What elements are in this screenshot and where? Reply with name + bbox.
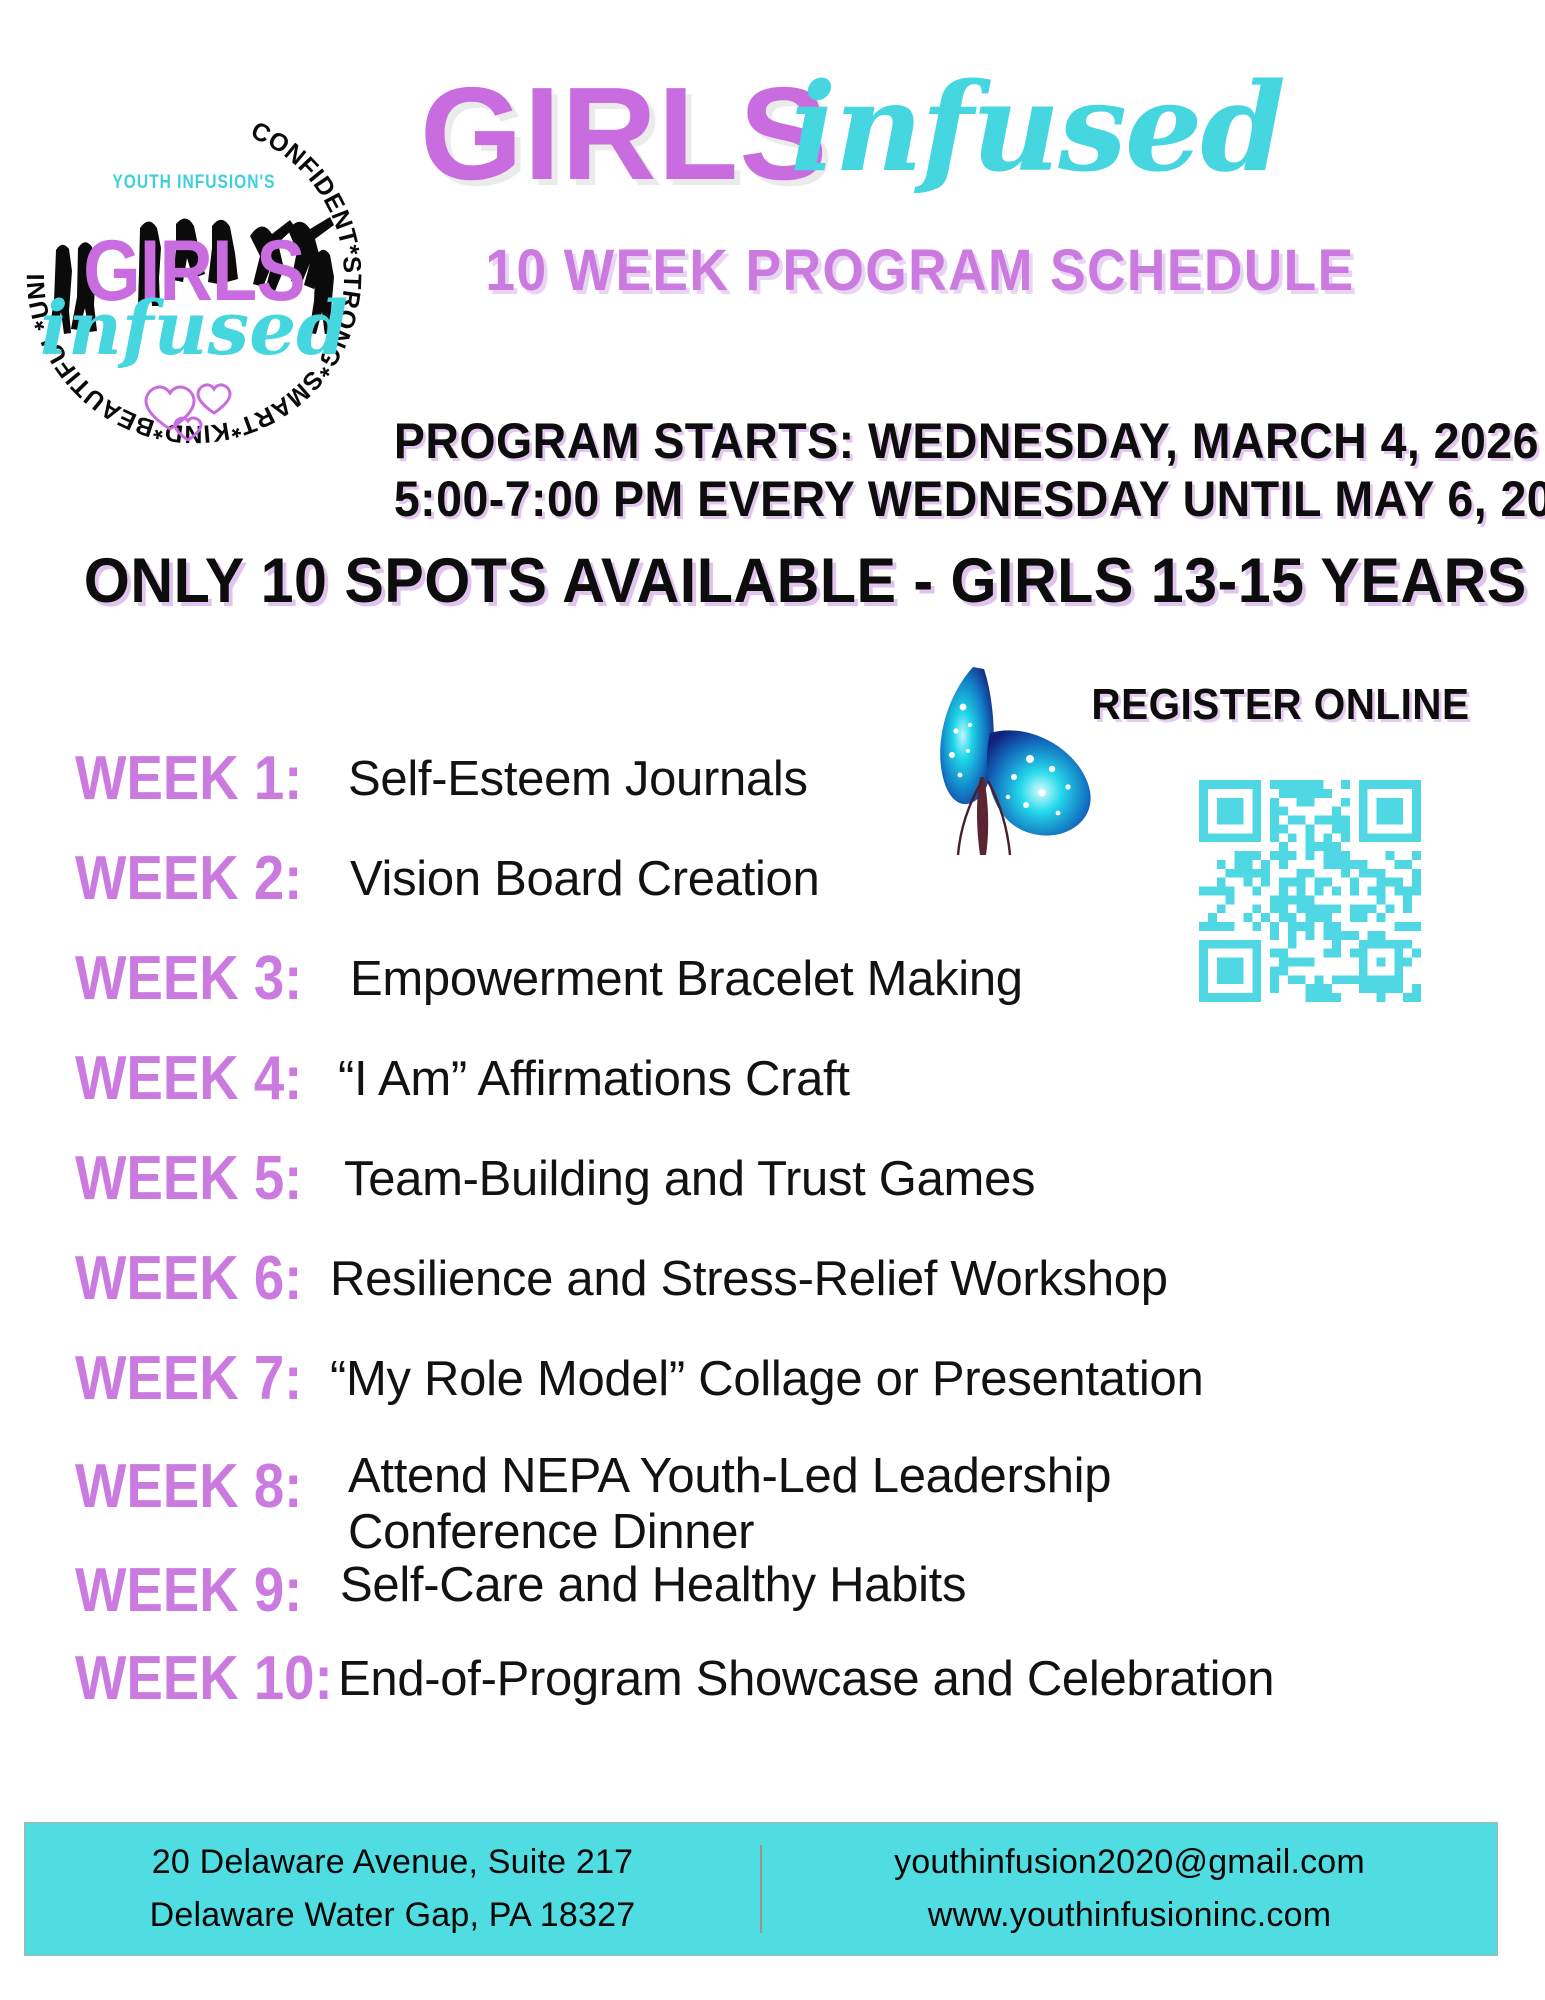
week-activity: “My Role Model” Collage or Presentation: [330, 1354, 1203, 1405]
schedule-row: WEEK 7: “My Role Model” Collage or Prese…: [0, 1348, 1545, 1448]
week-label: WEEK 2:: [75, 848, 302, 910]
week-label: WEEK 4:: [75, 1048, 302, 1110]
schedule-row: WEEK 6: Resilience and Stress-Relief Wor…: [0, 1248, 1545, 1348]
footer-online: youthinfusion2020@gmail.com www.youthinf…: [762, 1836, 1497, 1941]
schedule-row: WEEK 9: Self-Care and Healthy Habits: [0, 1560, 1545, 1648]
schedule-row: WEEK 3: Empowerment Bracelet Making: [0, 948, 1545, 1048]
flyer-title: GIRLS infused: [380, 68, 1460, 218]
register-online-label: REGISTER ONLINE: [1091, 680, 1469, 730]
week-label: WEEK 8:: [75, 1456, 302, 1518]
schedule-row: WEEK 10: End-of-Program Showcase and Cel…: [0, 1648, 1545, 1748]
program-start-line-2: 5:00-7:00 PM EVERY WEDNESDAY UNTIL MAY 6…: [394, 470, 1426, 528]
title-infused: infused: [790, 66, 1284, 188]
footer-email[interactable]: youthinfusion2020@gmail.com: [762, 1836, 1497, 1889]
week-activity: “I Am” Affirmations Craft: [338, 1054, 850, 1105]
logo-org-line: YOUTH INFUSION'S: [46, 172, 341, 194]
program-schedule-list: WEEK 1: Self-Esteem Journals WEEK 2: Vis…: [0, 748, 1545, 1748]
week-activity: Attend NEPA Youth-Led Leadership Confere…: [348, 1448, 1228, 1561]
program-subtitle: 10 WEEK PROGRAM SCHEDULE: [423, 237, 1417, 304]
week-activity: Resilience and Stress-Relief Workshop: [330, 1254, 1168, 1305]
schedule-row: WEEK 2: Vision Board Creation: [0, 848, 1545, 948]
week-label: WEEK 5:: [75, 1148, 302, 1210]
program-start-line-1: PROGRAM STARTS: WEDNESDAY, MARCH 4, 2026…: [394, 412, 1426, 470]
schedule-row: WEEK 8: Attend NEPA Youth-Led Leadership…: [0, 1448, 1545, 1560]
week-label: WEEK 1:: [75, 748, 302, 810]
schedule-row: WEEK 4: “I Am” Affirmations Craft: [0, 1048, 1545, 1148]
week-activity: Empowerment Bracelet Making: [350, 954, 1023, 1005]
week-label: WEEK 6:: [75, 1248, 302, 1310]
girls-infused-logo: CONFIDENT*STRONG*SMART*KIND*BEAUTIFUL*UN…: [14, 96, 374, 486]
flyer-page: CONFIDENT*STRONG*SMART*KIND*BEAUTIFUL*UN…: [0, 0, 1545, 2000]
footer-contact-bar: 20 Delaware Avenue, Suite 217 Delaware W…: [24, 1822, 1498, 1956]
schedule-row: WEEK 1: Self-Esteem Journals: [0, 748, 1545, 848]
week-activity: Team-Building and Trust Games: [344, 1154, 1035, 1205]
address-line-2: Delaware Water Gap, PA 18327: [25, 1889, 760, 1942]
week-label: WEEK 9:: [75, 1560, 302, 1622]
hearts-icon: [134, 371, 254, 441]
spots-availability-line: ONLY 10 SPOTS AVAILABLE - GIRLS 13-15 YE…: [84, 545, 1456, 617]
week-activity: Self-Esteem Journals: [348, 754, 808, 805]
footer-address: 20 Delaware Avenue, Suite 217 Delaware W…: [25, 1836, 760, 1941]
week-activity: Self-Care and Healthy Habits: [340, 1560, 966, 1611]
address-line-1: 20 Delaware Avenue, Suite 217: [25, 1836, 760, 1889]
schedule-row: WEEK 5: Team-Building and Trust Games: [0, 1148, 1545, 1248]
week-label: WEEK 7:: [75, 1348, 302, 1410]
title-girls: GIRLS: [420, 68, 828, 200]
week-activity: Vision Board Creation: [350, 854, 819, 905]
logo-word-infused: infused: [14, 292, 374, 366]
week-label: WEEK 3:: [75, 948, 302, 1010]
week-label: WEEK 10:: [75, 1648, 333, 1710]
week-activity: End-of-Program Showcase and Celebration: [338, 1654, 1274, 1705]
footer-website[interactable]: www.youthinfusioninc.com: [762, 1889, 1497, 1942]
